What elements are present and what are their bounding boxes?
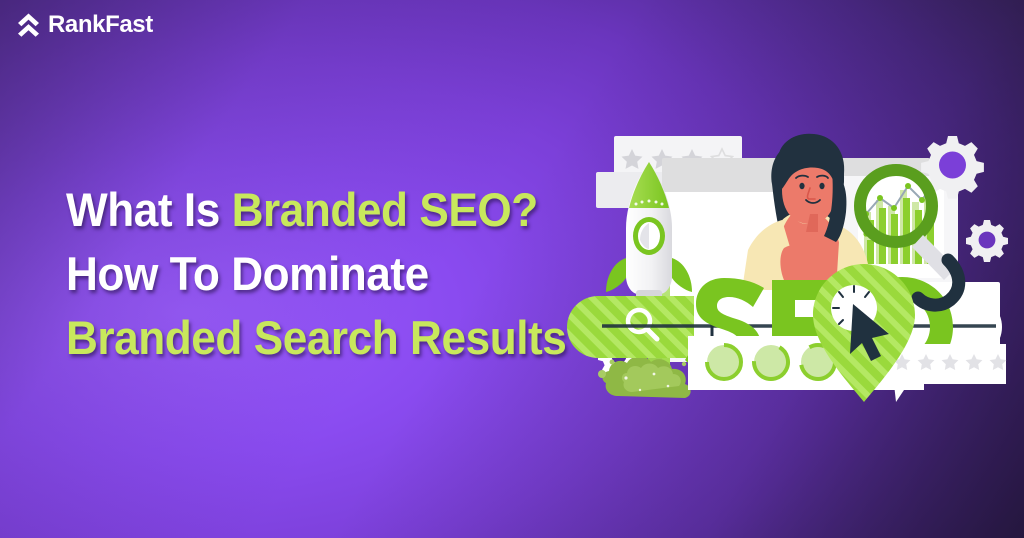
star-rating-bubble <box>884 344 1006 402</box>
headline-line-3: Branded Search Results <box>66 306 592 370</box>
page-title: What Is Branded SEO? How To Dominate Bra… <box>66 178 626 370</box>
brand-name: RankFast <box>48 11 153 39</box>
brand-logo[interactable]: RankFast <box>16 11 153 39</box>
headline-line-1-plain: What Is <box>66 183 232 236</box>
headline-line-1: What Is Branded SEO? <box>66 178 592 242</box>
gear-hole <box>939 152 966 179</box>
headline-line-2: How To Dominate <box>66 242 592 306</box>
headline-line-1-accent: Branded SEO? <box>232 183 538 236</box>
seo-illustration <box>596 128 1016 418</box>
banner-root: RankFast What Is Branded SEO? How To Dom… <box>0 0 1024 538</box>
gear-small-hole <box>979 232 996 249</box>
double-chevron-up-icon <box>16 12 41 39</box>
progress-ring <box>707 345 741 379</box>
